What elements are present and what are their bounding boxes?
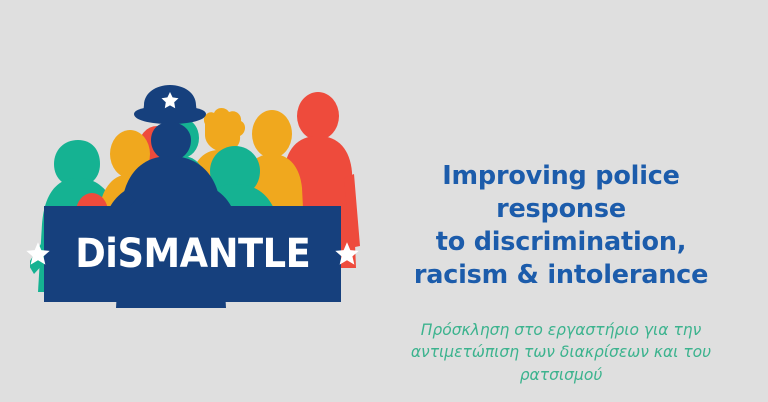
- main-headline: Improving police response to discriminat…: [380, 160, 742, 293]
- dismantle-logo: DiSMANTLE: [30, 78, 360, 308]
- subtitle-greek: Πρόσκληση στο εργαστήριο για την αντιμετ…: [380, 319, 742, 386]
- subtitle-line-2: αντιμετώπιση των διακρίσεων και του ρατσ…: [380, 341, 742, 386]
- star-icon: [25, 241, 51, 267]
- headline-line-2: to discrimination,: [380, 226, 742, 259]
- headline-line-1: Improving police response: [380, 160, 742, 226]
- subtitle-line-1: Πρόσκληση στο εργαστήριο για την: [380, 319, 742, 341]
- logo-banner: DiSMANTLE: [44, 206, 341, 302]
- star-icon: [334, 241, 360, 267]
- text-block: Improving police response to discriminat…: [380, 160, 742, 386]
- logo-wordmark: DiSMANTLE: [75, 234, 310, 274]
- poster-canvas: DiSMANTLE Improving police response to d…: [0, 0, 768, 402]
- headline-line-3: racism & intolerance: [380, 259, 742, 292]
